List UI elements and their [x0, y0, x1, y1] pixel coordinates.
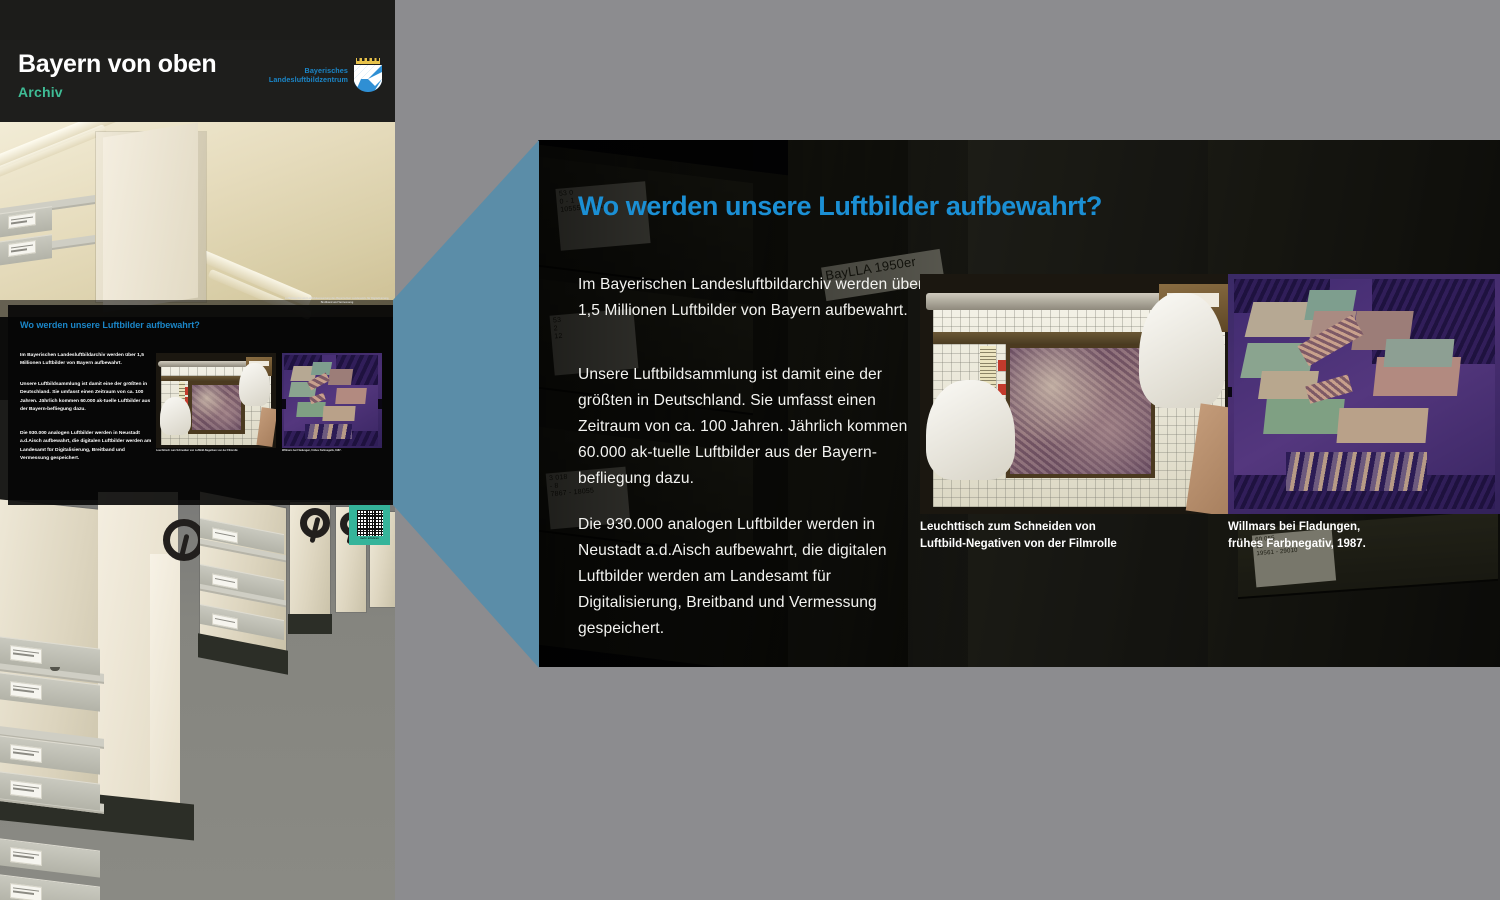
- film-sprocket: [282, 399, 286, 409]
- mini-info-panel[interactable]: Wo werden unsere Luftbilder aufbewahrt? …: [8, 305, 393, 505]
- white-glove-right-icon: [1139, 293, 1225, 408]
- qr-sticker[interactable]: mehr erfahren: [349, 505, 390, 545]
- zoom-connector-callout: [393, 140, 539, 668]
- film-roller-bar: [926, 293, 1174, 310]
- page-title: Bayern von oben: [18, 50, 216, 79]
- screenshot-canvas: mehr erfahren Luftbildarchiv und Luftbil…: [0, 0, 1500, 900]
- negative-frame: [1234, 279, 1495, 509]
- white-glove-left-icon: [160, 397, 191, 435]
- qr-caption: mehr erfahren: [360, 537, 379, 540]
- white-glove-right-icon: [239, 363, 270, 407]
- detail-panel-title: Wo werden unsere Luftbilder aufbewahrt?: [578, 191, 1102, 222]
- field: [328, 369, 353, 385]
- photo-a-caption-line-2: Luftbild-Negativen von der Filmrolle: [920, 536, 1220, 553]
- light-table-scene: [920, 274, 1238, 514]
- photo-b-caption: Willmars bei Fladungen, frühes Farbnegat…: [1228, 519, 1498, 552]
- mini-light-table-photo: [156, 353, 276, 448]
- aerial-negative: [188, 381, 244, 434]
- aerial-color-negative-photo: [1228, 274, 1500, 514]
- shelving-base: [288, 614, 332, 634]
- zoomed-detail-panel[interactable]: 53 00 - 110555 - 13117 53212 3 018- 8786…: [538, 140, 1500, 667]
- field: [1337, 408, 1429, 443]
- photo-b-caption-line-1: Willmars bei Fladungen,: [1228, 519, 1498, 536]
- field-strips: [1286, 452, 1427, 491]
- field: [1384, 339, 1455, 367]
- negative-frame: [284, 355, 378, 446]
- photo-a-caption: Leuchttisch zum Schneiden von Luftbild-N…: [920, 519, 1220, 552]
- mini-aerial-negative-photo: [282, 353, 382, 448]
- mini-paragraph-3: Die 930.000 analogen Luftbilder werden i…: [20, 430, 155, 464]
- mini-caption-a: Leuchttisch zum Schneiden von Luftbild-N…: [156, 449, 276, 453]
- mini-caption-b: Willmars bei Fladungen, frühes Farbnegat…: [282, 449, 393, 453]
- shelving-handwheel[interactable]: [163, 519, 205, 561]
- field: [323, 406, 356, 421]
- page-subtitle: Archiv: [18, 84, 63, 100]
- field-strips: [305, 424, 352, 439]
- poster-credit-line: Luftbildarchiv und Luftbildauswertung de…: [282, 297, 392, 304]
- logo-line-1: Bayerisches: [269, 66, 348, 75]
- white-glove-left-icon: [926, 380, 1015, 481]
- photo-b-caption-line-2: frühes Farbnegativ, 1987.: [1228, 536, 1498, 553]
- photo-a-caption-line-1: Leuchttisch zum Schneiden von: [920, 519, 1220, 536]
- film-sprocket: [1228, 387, 1232, 397]
- field: [1263, 399, 1345, 434]
- light-table-scene: [156, 353, 276, 448]
- mini-paragraph-1: Im Bayerischen Landesluftbildarchiv werd…: [20, 352, 155, 369]
- light-table-photo: [920, 274, 1238, 514]
- poster-board: mehr erfahren Luftbildarchiv und Luftbil…: [0, 0, 395, 900]
- organisation-logo[interactable]: Bayerisches Landesluftbildzentrum: [269, 56, 383, 94]
- color-negative-scene: [1228, 274, 1500, 514]
- poster-header: Bayern von oben Archiv Bayerisches Lande…: [0, 40, 395, 122]
- mini-paragraph-2: Unsere Luftbildsammlung ist damit eine d…: [20, 381, 155, 415]
- film-clamp-bar: [933, 332, 1175, 344]
- mini-panel-title: Wo werden unsere Luftbilder aufbewahrt?: [20, 320, 300, 330]
- bavaria-coat-of-arms-icon: [353, 58, 383, 92]
- detail-paragraph-1: Im Bayerischen Landesluftbildarchiv werd…: [578, 272, 933, 324]
- logo-text: Bayerisches Landesluftbildzentrum: [269, 66, 348, 84]
- archive-box-label: [10, 883, 42, 900]
- logo-line-2: Landesluftbildzentrum: [269, 75, 348, 84]
- color-negative-scene: [282, 353, 382, 448]
- shelving-unit-side: [103, 122, 198, 312]
- field: [335, 388, 367, 404]
- shelving-handwheel[interactable]: [300, 508, 330, 538]
- shelving-unit-endrail: [150, 554, 180, 834]
- detail-paragraph-2: Unsere Luftbildsammlung ist damit eine d…: [578, 362, 933, 491]
- archive-room-photo: [0, 122, 395, 900]
- qr-code-icon: [357, 510, 383, 536]
- detail-paragraph-3: Die 930.000 analogen Luftbilder werden i…: [578, 512, 933, 641]
- film-roller-bar: [158, 361, 252, 368]
- film-sprocket: [378, 399, 382, 409]
- aerial-negative: [1006, 344, 1155, 478]
